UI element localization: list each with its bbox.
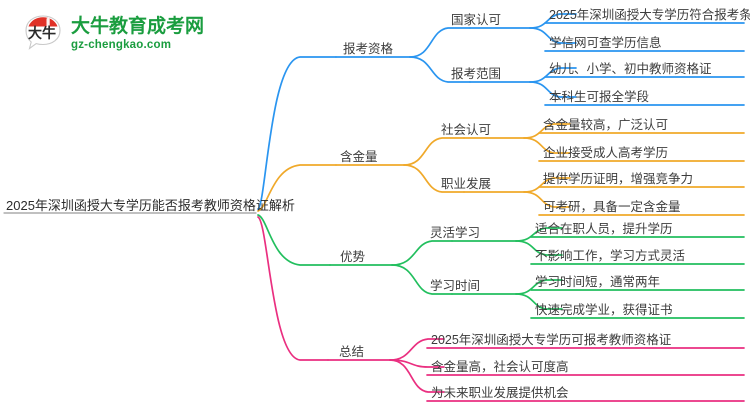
leaf-label-4-3[interactable]: 为未来职业发展提供机会 [431, 387, 569, 400]
branch-line-3 [258, 215, 330, 265]
leaf-label-2-2-2[interactable]: 可考研，具备一定含金量 [543, 201, 681, 214]
branch-label-hanjinliang[interactable]: 含金量 [340, 151, 378, 164]
branch-label-baokaozige[interactable]: 报考资格 [343, 43, 393, 56]
sub-line-3-1 [392, 241, 452, 265]
leaf-label-3-2-2[interactable]: 快速完成学业，获得证书 [535, 304, 673, 317]
branch-line-4 [258, 217, 328, 360]
branch-label-youshi[interactable]: 优势 [340, 251, 365, 264]
leaf-label-1-1-2[interactable]: 学信网可查学历信息 [549, 37, 662, 50]
leaf-label-3-2-1[interactable]: 学习时间短，通常两年 [535, 276, 660, 289]
sub-label-shehuirenke[interactable]: 社会认可 [441, 124, 491, 137]
leaf-label-3-1-2[interactable]: 不影响工作，学习方式灵活 [535, 250, 685, 263]
leaf-label-1-2-1[interactable]: 幼儿、小学、初中教师资格证 [549, 63, 712, 76]
sub-label-baokaofanwei[interactable]: 报考范围 [451, 68, 501, 81]
sub-label-zhiyefazhan[interactable]: 职业发展 [441, 178, 491, 191]
sub-line-1-1 [410, 28, 470, 57]
sub-line-2-1 [404, 138, 464, 165]
sub-label-linghuoxuexi[interactable]: 灵活学习 [430, 227, 480, 240]
branch-line-1 [258, 57, 336, 209]
leaf-label-2-2-1[interactable]: 提供学历证明，增强竞争力 [543, 173, 693, 186]
branch-label-zongjie[interactable]: 总结 [339, 346, 364, 359]
sub-label-guojiarenke[interactable]: 国家认可 [451, 14, 501, 27]
leaf-label-1-1-1[interactable]: 2025年深圳函授大专学历符合报考条件 [549, 9, 750, 22]
leaf-label-4-2[interactable]: 含金量高，社会认可度高 [431, 361, 569, 374]
leaf-label-1-2-2[interactable]: 本科生可报全学段 [549, 91, 649, 104]
sub-label-xuexishijian[interactable]: 学习时间 [430, 280, 480, 293]
mindmap-canvas: 大牛 大牛教育成考网 gz-chengkao.com [0, 0, 750, 410]
leaf-label-4-1[interactable]: 2025年深圳函授大专学历可报考教师资格证 [431, 334, 671, 347]
leaf-label-2-1-2[interactable]: 企业接受成人高考学历 [543, 147, 668, 160]
root-node-label[interactable]: 2025年深圳函授大专学历能否报考教师资格证解析 [6, 199, 295, 212]
leaf-label-2-1-1[interactable]: 含金量较高，广泛认可 [543, 119, 668, 132]
leaf-label-3-1-1[interactable]: 适合在职人员，提升学历 [535, 223, 673, 236]
